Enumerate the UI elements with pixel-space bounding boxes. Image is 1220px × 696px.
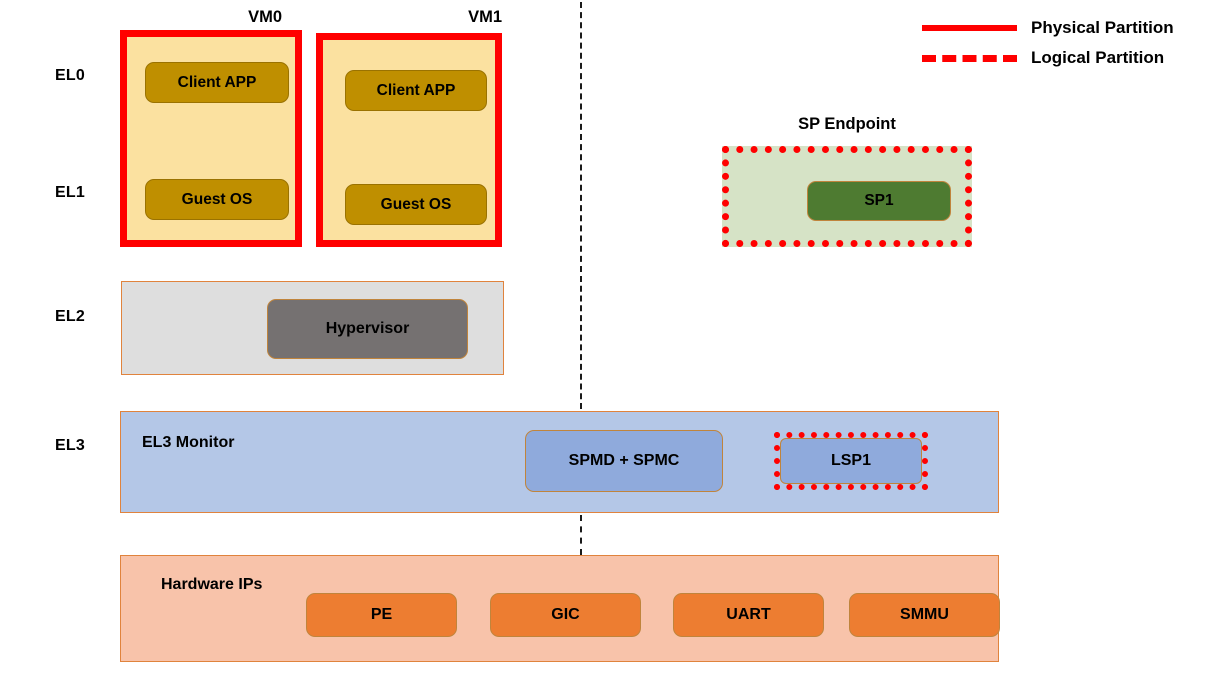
secure-divider-top	[580, 2, 582, 272]
el2-band: Hypervisor	[121, 281, 504, 375]
lsp1-logical-partition[interactable]: LSP1	[774, 432, 928, 490]
level-label-el0: EL0	[55, 67, 85, 85]
vm0-client-app-label: Client APP	[178, 74, 257, 92]
sp-endpoint-title: SP Endpoint	[722, 115, 972, 134]
secure-divider-middle	[580, 276, 582, 409]
gic-node[interactable]: GIC	[490, 593, 641, 637]
pe-label: PE	[371, 606, 392, 624]
sp1-node[interactable]: SP1	[807, 181, 951, 221]
legend-logical-label: Logical Partition	[1031, 48, 1164, 68]
spmd-spmc-label: SPMD + SPMC	[569, 452, 680, 470]
vm1-guest-os-node[interactable]: Guest OS	[345, 184, 487, 225]
vm0-client-app-node[interactable]: Client APP	[145, 62, 289, 103]
level-label-el1: EL1	[55, 184, 85, 202]
lsp1-node[interactable]: LSP1	[780, 438, 922, 484]
vm1-title: VM1	[380, 8, 502, 27]
vm1-guest-os-label: Guest OS	[381, 196, 452, 214]
el3-monitor-title: EL3 Monitor	[142, 434, 234, 452]
vm0-title: VM0	[160, 8, 282, 27]
vm1-client-app-label: Client APP	[377, 82, 456, 100]
sp-endpoint-partition[interactable]: SP1	[722, 146, 972, 247]
level-label-el3: EL3	[55, 437, 85, 455]
vm0-guest-os-node[interactable]: Guest OS	[145, 179, 289, 220]
el3-band: EL3 Monitor SPMD + SPMC LSP1	[120, 411, 999, 513]
hypervisor-node[interactable]: Hypervisor	[267, 299, 468, 359]
solid-line-icon	[922, 25, 1017, 31]
legend-item-physical: Physical Partition	[922, 18, 1174, 38]
vm1-partition[interactable]: Client APP Guest OS	[316, 33, 502, 247]
gic-label: GIC	[551, 606, 579, 624]
sp1-label: SP1	[864, 192, 893, 210]
dashed-line-icon	[922, 55, 1017, 62]
smmu-node[interactable]: SMMU	[849, 593, 1000, 637]
lsp1-label: LSP1	[831, 452, 871, 470]
vm0-guest-os-label: Guest OS	[182, 191, 253, 209]
diagram-canvas: EL0 EL1 EL2 EL3 VM0 Client APP Guest OS …	[0, 0, 1220, 696]
vm0-partition[interactable]: Client APP Guest OS	[120, 30, 302, 247]
legend-item-logical: Logical Partition	[922, 48, 1164, 68]
hardware-band: Hardware IPs PE GIC UART SMMU	[120, 555, 999, 662]
hardware-ips-title: Hardware IPs	[161, 576, 262, 594]
uart-node[interactable]: UART	[673, 593, 824, 637]
vm1-client-app-node[interactable]: Client APP	[345, 70, 487, 111]
pe-node[interactable]: PE	[306, 593, 457, 637]
smmu-label: SMMU	[900, 606, 949, 624]
uart-label: UART	[726, 606, 770, 624]
level-label-el2: EL2	[55, 308, 85, 326]
hypervisor-label: Hypervisor	[326, 320, 410, 338]
secure-divider-bottom	[580, 515, 582, 555]
spmd-spmc-node[interactable]: SPMD + SPMC	[525, 430, 723, 492]
legend-physical-label: Physical Partition	[1031, 18, 1174, 38]
